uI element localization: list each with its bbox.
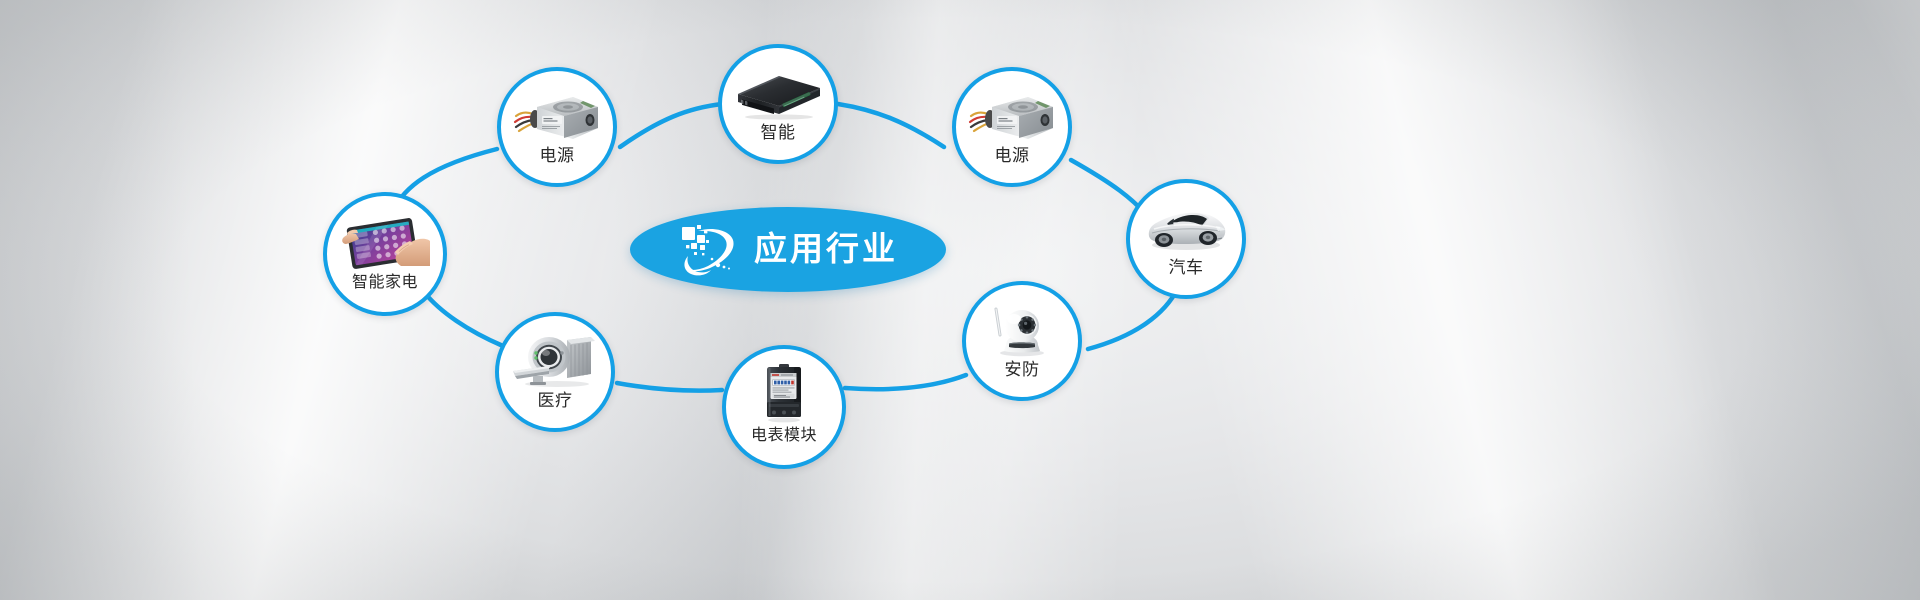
sports-car-icon <box>1140 195 1232 257</box>
node-power-right[interactable]: 电源 <box>952 67 1072 187</box>
node-label: 安防 <box>1005 361 1040 380</box>
electric-meter-icon <box>738 361 830 423</box>
node-security[interactable]: 安防 <box>962 281 1082 401</box>
ring-segment-5 <box>845 375 966 389</box>
ct-scanner-icon <box>509 328 601 390</box>
rackmount-server-icon <box>732 60 824 122</box>
node-label: 智能 <box>761 124 796 143</box>
ring-segment-7 <box>424 292 503 346</box>
center-badge[interactable]: 应用行业 <box>630 207 946 292</box>
ring-segment-4 <box>1088 288 1178 349</box>
node-meter[interactable]: 电表模块 <box>722 345 846 469</box>
node-smart-home[interactable]: 智能家电 <box>323 192 447 316</box>
ring-segment-6 <box>617 383 722 391</box>
node-label: 医疗 <box>538 392 573 411</box>
tablet-touch-icon <box>339 208 431 270</box>
node-label: 电表模块 <box>751 425 817 444</box>
orbit-pixel-swoosh-icon <box>678 221 740 279</box>
atx-power-supply-icon <box>966 83 1058 145</box>
connector-ring <box>0 0 1920 600</box>
node-automotive[interactable]: 汽车 <box>1126 179 1246 299</box>
ring-segment-2 <box>838 104 944 147</box>
node-medical[interactable]: 医疗 <box>495 312 615 432</box>
center-badge-title: 应用行业 <box>754 232 898 267</box>
node-label: 汽车 <box>1169 259 1204 278</box>
ring-segment-1 <box>620 104 722 147</box>
node-label: 电源 <box>995 147 1030 166</box>
node-power-left[interactable]: 电源 <box>497 67 617 187</box>
ip-camera-icon <box>976 297 1068 359</box>
atx-power-supply-icon <box>511 83 603 145</box>
infographic-canvas: 电源 <box>0 0 1920 600</box>
node-label: 智能家电 <box>352 272 418 291</box>
node-smart[interactable]: 智能 <box>718 44 838 164</box>
node-label: 电源 <box>540 147 575 166</box>
